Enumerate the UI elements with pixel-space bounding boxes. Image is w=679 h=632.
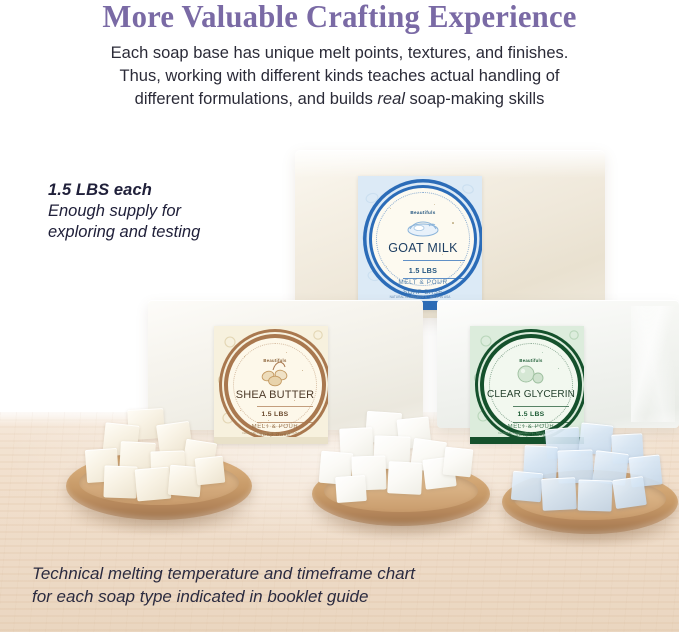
label-footer-shea-butter: NATURAL INGREDIENTS · MADE IN USA <box>214 431 328 435</box>
label-divider-top-clear-glycerin <box>513 406 569 407</box>
label-divider-top-shea-butter <box>257 406 313 407</box>
callout-weight-heading: 1.5 LBS each <box>48 180 278 201</box>
callout-weight-line1: Enough supply for <box>48 201 278 222</box>
label-disc-clear-glycerin: Beautifuls CLEAR GLYCERIN 1.5 LBS MELT &… <box>480 334 582 436</box>
product-label-goat-milk: Beautifuls GOAT MILK 1.5 LBS MELT & POUR… <box>358 176 482 310</box>
label-bottom-bar-shea-butter <box>214 437 328 444</box>
product-label-shea-butter: Beautifuls SHEA BUTTER 1.5 LBS MELT & PO… <box>214 326 328 444</box>
label-weight-clear-glycerin: 1.5 LBS <box>484 412 578 419</box>
label-type-line1-shea-butter: MELT & POUR <box>228 424 322 430</box>
label-name-clear-glycerin: CLEAR GLYCERIN <box>484 390 578 400</box>
plastic-wrap-fold <box>631 306 675 422</box>
intro-paragraph: Each soap base has unique melt points, t… <box>38 42 641 111</box>
intro-line-3-prefix: different formulations, and builds <box>135 90 378 108</box>
label-divider-bottom-shea-butter <box>257 422 313 423</box>
callout-booklet-line1: Technical melting temperature and timefr… <box>32 562 552 585</box>
label-divider-top-goat-milk <box>403 260 465 261</box>
callout-weight-line2: exploring and testing <box>48 222 278 243</box>
label-weight-goat-milk: 1.5 LBS <box>372 267 474 274</box>
label-name-shea-butter: SHEA BUTTER <box>228 390 322 401</box>
intro-line-1: Each soap base has unique melt points, t… <box>111 44 569 62</box>
label-name-goat-milk: GOAT MILK <box>372 242 474 255</box>
callout-booklet: Technical melting temperature and timefr… <box>32 562 552 608</box>
label-disc-shea-butter: Beautifuls SHEA BUTTER 1.5 LBS MELT & PO… <box>224 334 326 436</box>
intro-emphasis: real <box>377 90 405 108</box>
product-label-clear-glycerin: Beautifuls CLEAR GLYCERIN 1.5 LBS MELT &… <box>470 326 584 444</box>
label-weight-shea-butter: 1.5 LBS <box>228 412 322 419</box>
intro-line-3-suffix: soap-making skills <box>405 90 544 108</box>
infographic-canvas: More Valuable Crafting Experience Each s… <box>0 0 679 632</box>
label-footer-goat-milk: NATURAL INGREDIENTS · MADE IN USA <box>358 295 482 299</box>
label-type-line1-goat-milk: MELT & POUR <box>372 280 474 286</box>
intro-line-2: Thus, working with different kinds teach… <box>120 67 560 85</box>
callout-weight: 1.5 LBS each Enough supply for exploring… <box>48 180 278 243</box>
label-disc-goat-milk: Beautifuls GOAT MILK 1.5 LBS MELT & POUR… <box>369 185 477 293</box>
label-divider-bottom-clear-glycerin <box>513 422 569 423</box>
callout-booklet-line2: for each soap type indicated in booklet … <box>32 585 552 608</box>
page-title: More Valuable Crafting Experience <box>14 0 666 35</box>
